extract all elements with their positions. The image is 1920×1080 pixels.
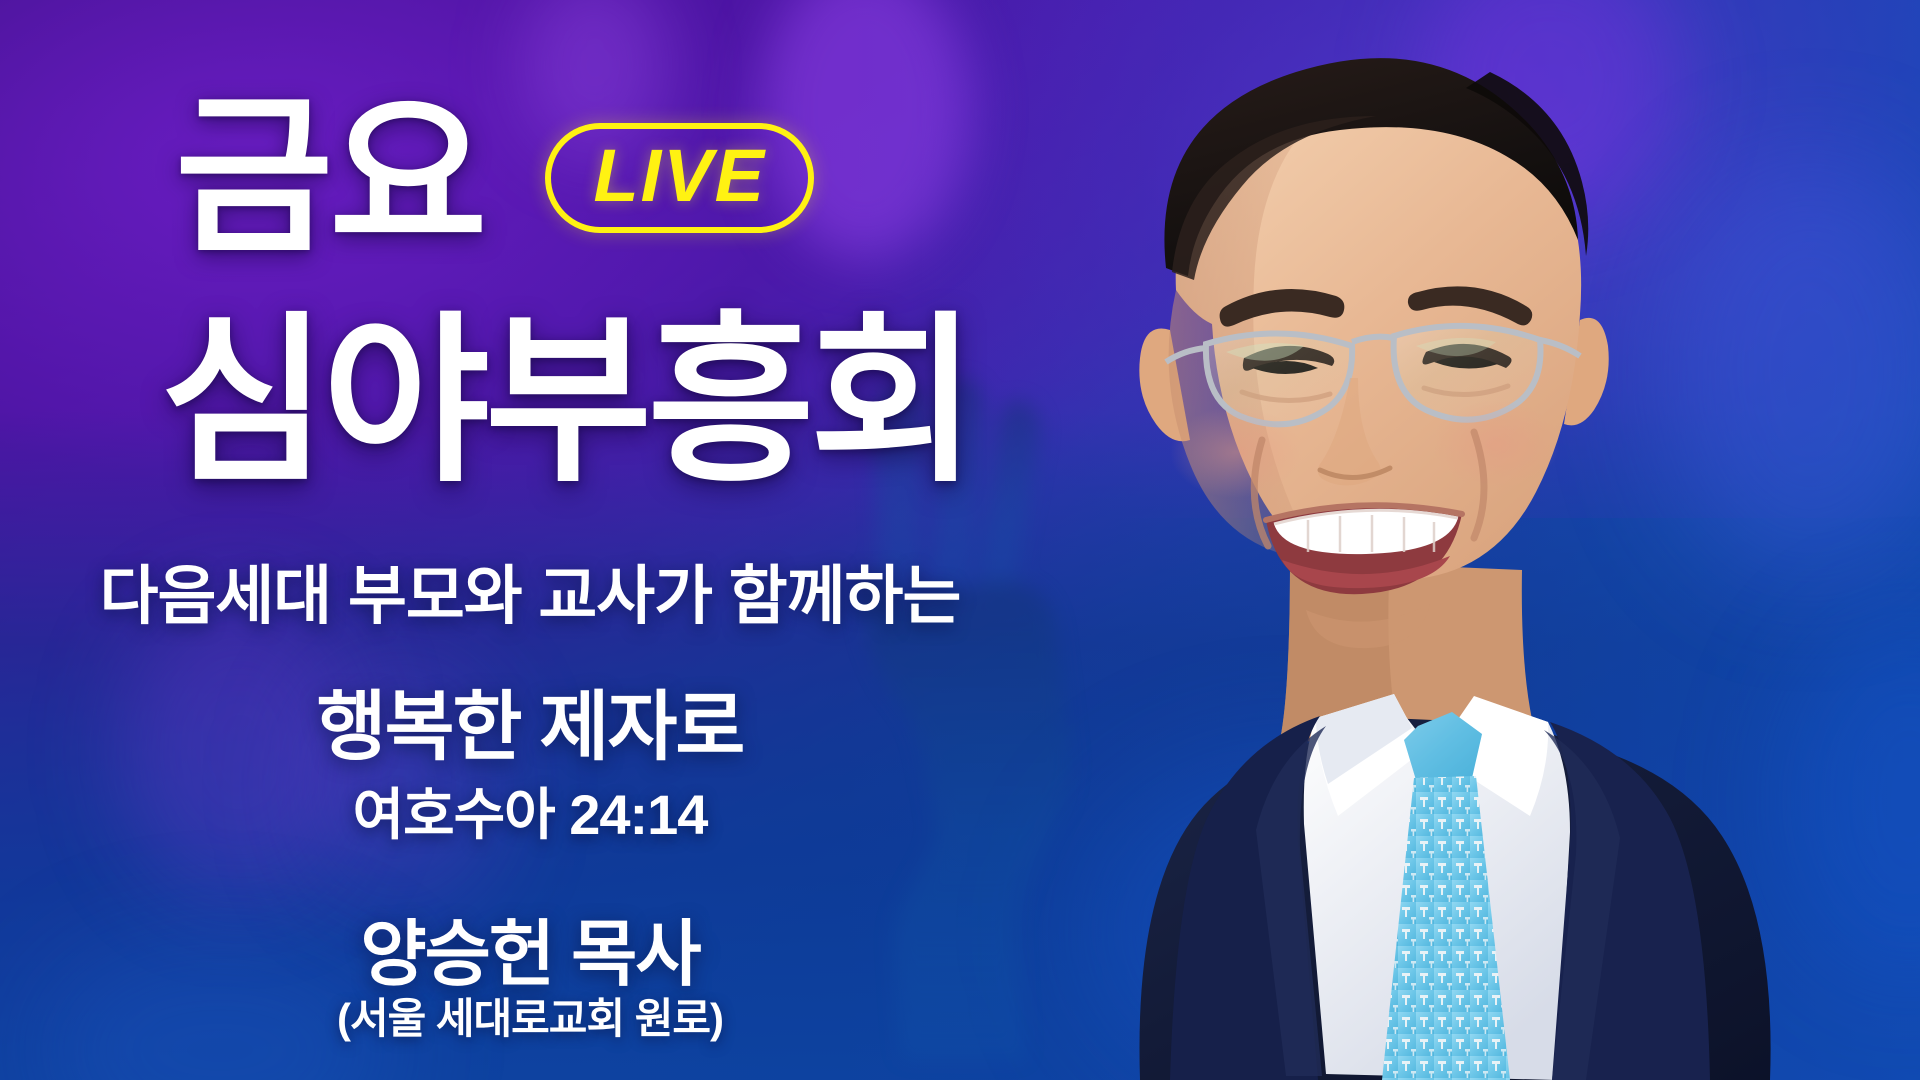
day-and-live-row: 금요 LIVE (175, 96, 814, 259)
page-title: 심야부흥회 (160, 310, 972, 492)
event-subtitle: 다음세대 부모와 교사가 함께하는 (0, 545, 1060, 637)
livestream-title-card: 금요 LIVE 심야부흥회 다음세대 부모와 교사가 함께하는 행복한 제자로 … (0, 0, 1920, 1080)
sermon-title: 행복한 제자로 (0, 665, 1060, 775)
title-card-content: 금요 LIVE 심야부흥회 다음세대 부모와 교사가 함께하는 행복한 제자로 … (0, 0, 1100, 1080)
speaker-portrait (1020, 0, 1920, 1080)
speaker-affiliation: (서울 세대로교회 원로) (0, 985, 1060, 1046)
live-pill-badge: LIVE (545, 123, 813, 233)
scripture-reference: 여호수아 24:14 (0, 770, 1060, 851)
live-badge-label: LIVE (593, 139, 765, 213)
day-label: 금요 (175, 96, 483, 259)
